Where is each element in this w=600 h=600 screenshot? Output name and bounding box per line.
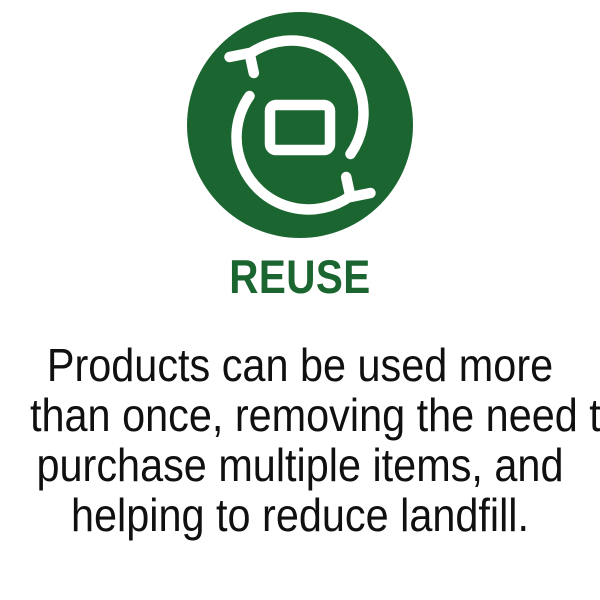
reuse-icon-badge <box>187 12 413 238</box>
description-line: Products can be used more <box>30 340 570 390</box>
description-line: purchase multiple items, and <box>30 440 570 490</box>
description-line: than once, removing the need to <box>30 390 570 440</box>
reuse-info-card: REUSE Products can be used more than onc… <box>0 0 600 600</box>
description-line: helping to reduce landfill. <box>30 490 570 540</box>
description-text: Products can be used more than once, rem… <box>30 340 570 540</box>
page-title: REUSE <box>42 253 558 300</box>
